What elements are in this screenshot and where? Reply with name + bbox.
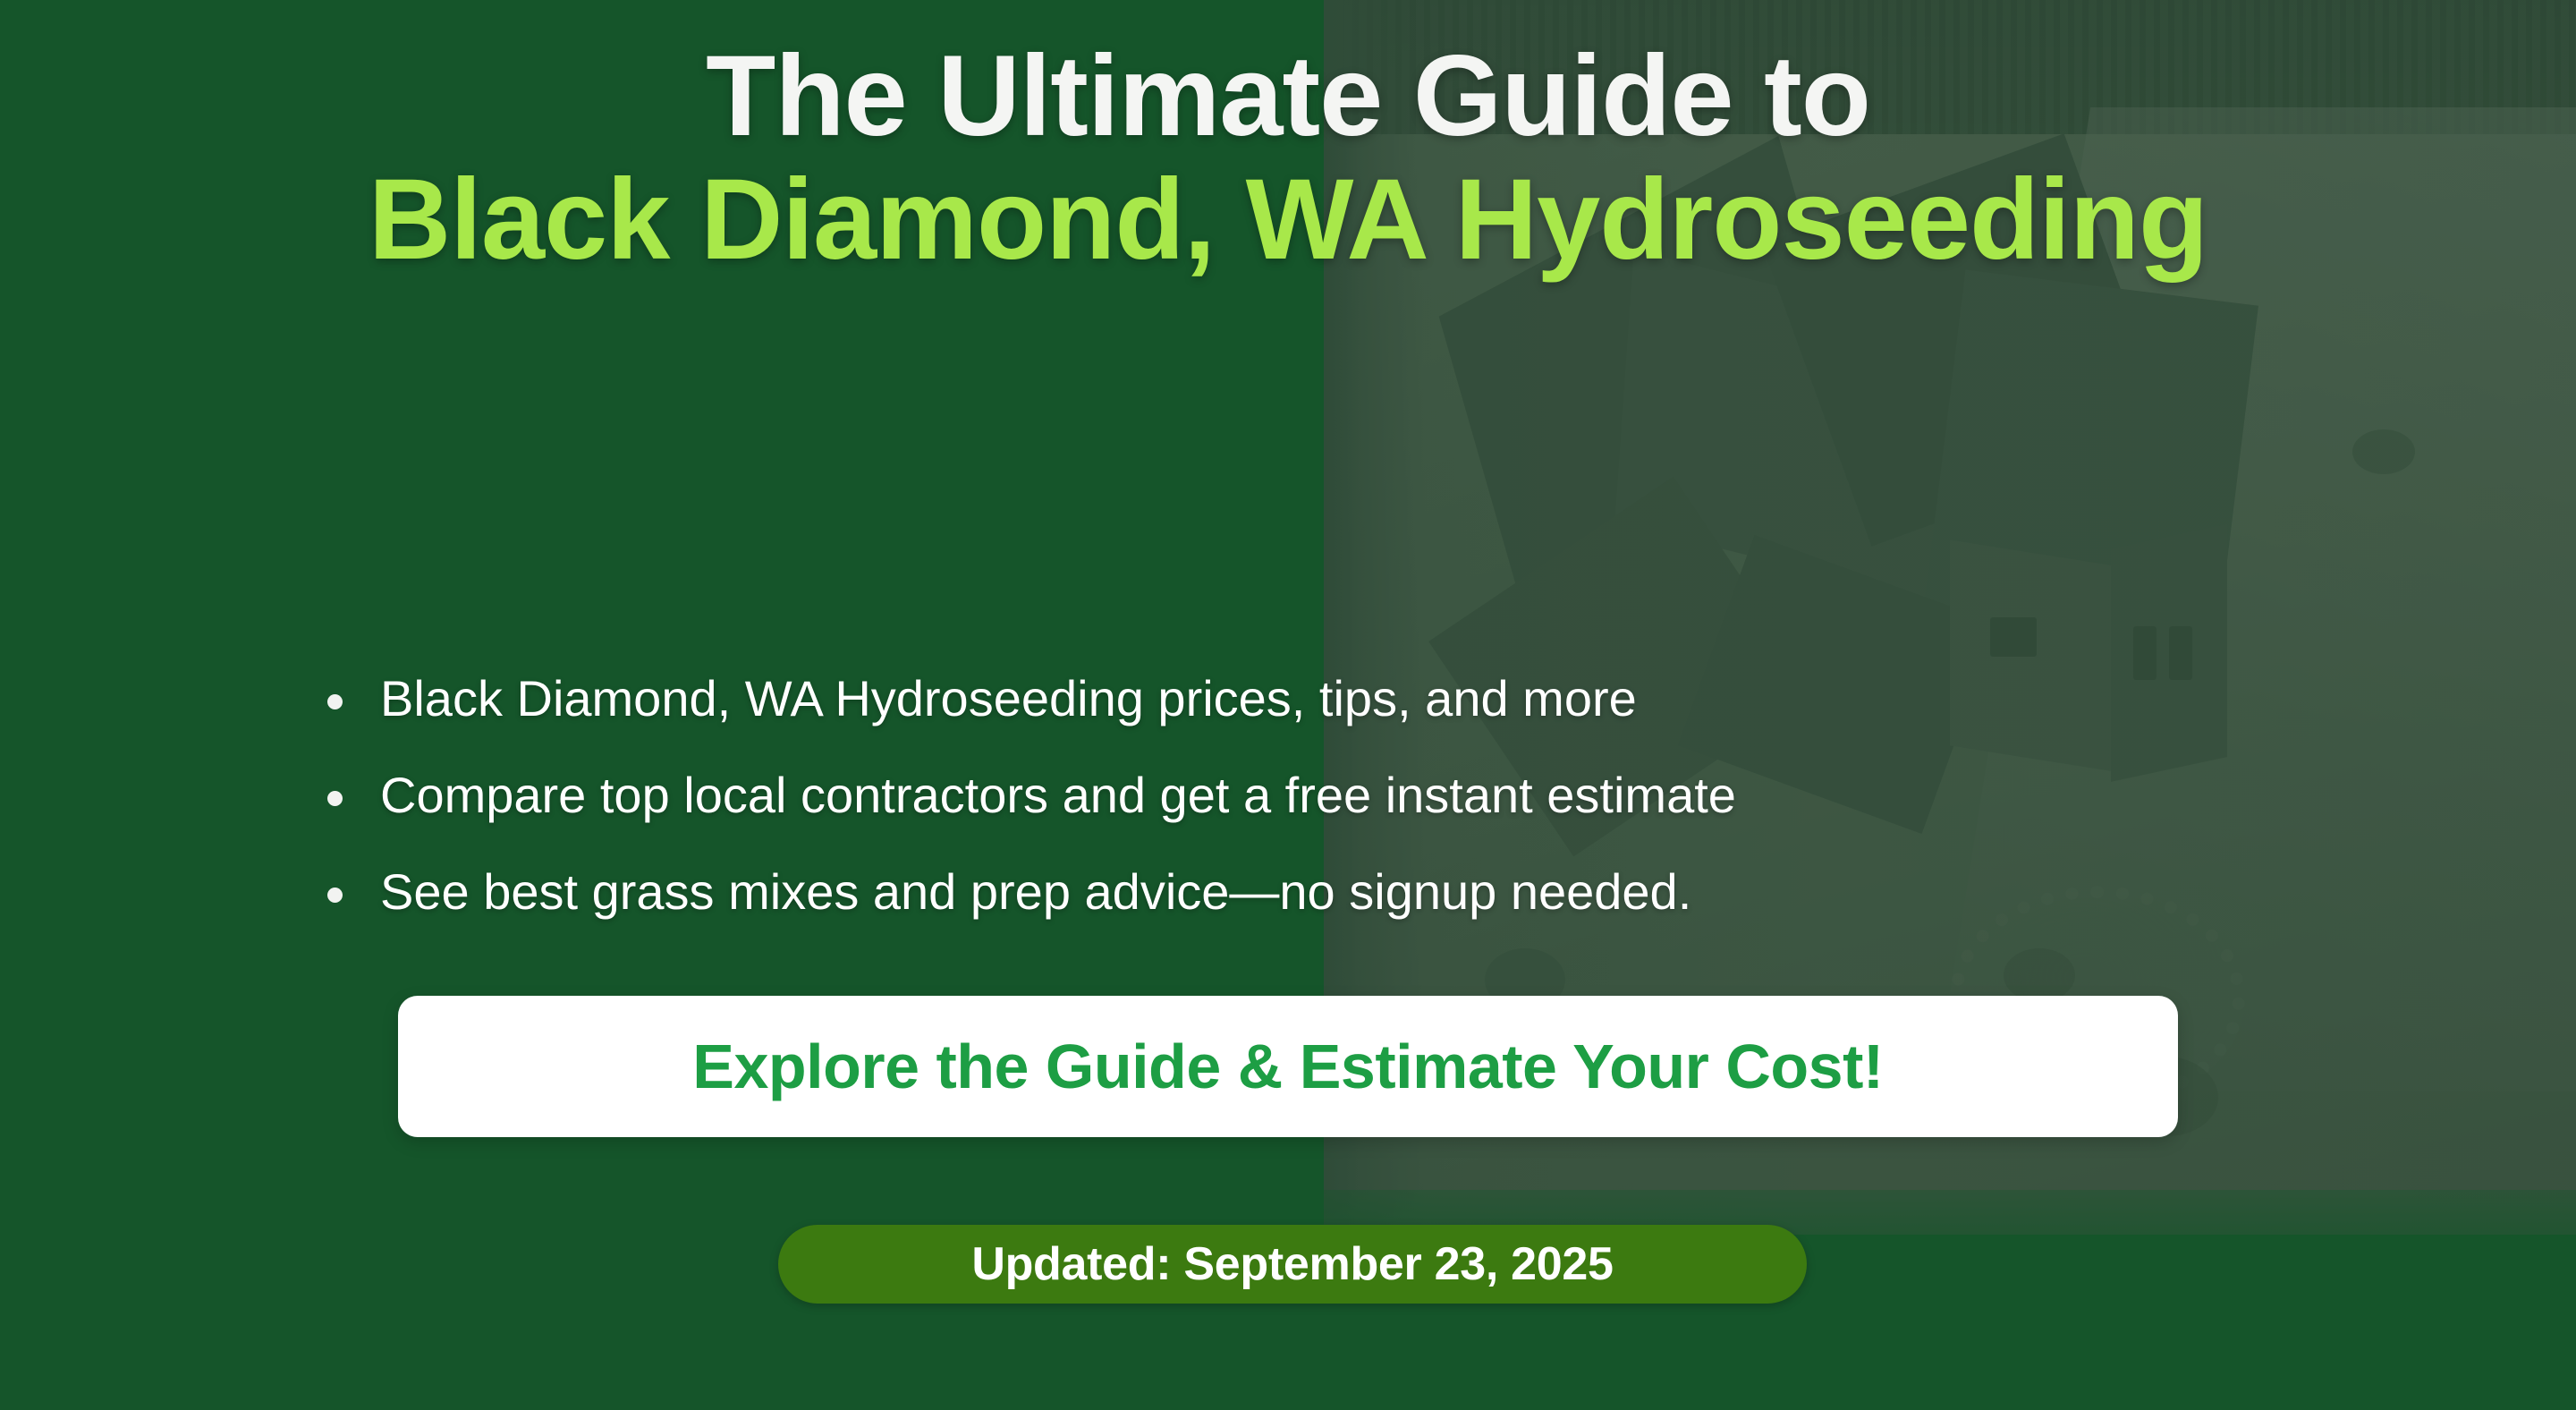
- headline-line-2: Black Diamond, WA Hydroseeding: [161, 163, 2415, 277]
- page-title: The Ultimate Guide to Black Diamond, WA …: [0, 39, 2576, 277]
- headline-line-1: The Ultimate Guide to: [161, 39, 2415, 154]
- list-item: See best grass mixes and prep advice—no …: [322, 866, 2290, 919]
- updated-date-badge: Updated: September 23, 2025: [778, 1225, 1807, 1304]
- list-item: Compare top local contractors and get a …: [322, 769, 2290, 822]
- hero-banner: The Ultimate Guide to Black Diamond, WA …: [0, 0, 2576, 1410]
- benefit-list: Black Diamond, WA Hydroseeding prices, t…: [322, 673, 2290, 962]
- banner-content: The Ultimate Guide to Black Diamond, WA …: [0, 0, 2576, 1410]
- explore-guide-button[interactable]: Explore the Guide & Estimate Your Cost!: [398, 996, 2178, 1137]
- list-item: Black Diamond, WA Hydroseeding prices, t…: [322, 673, 2290, 726]
